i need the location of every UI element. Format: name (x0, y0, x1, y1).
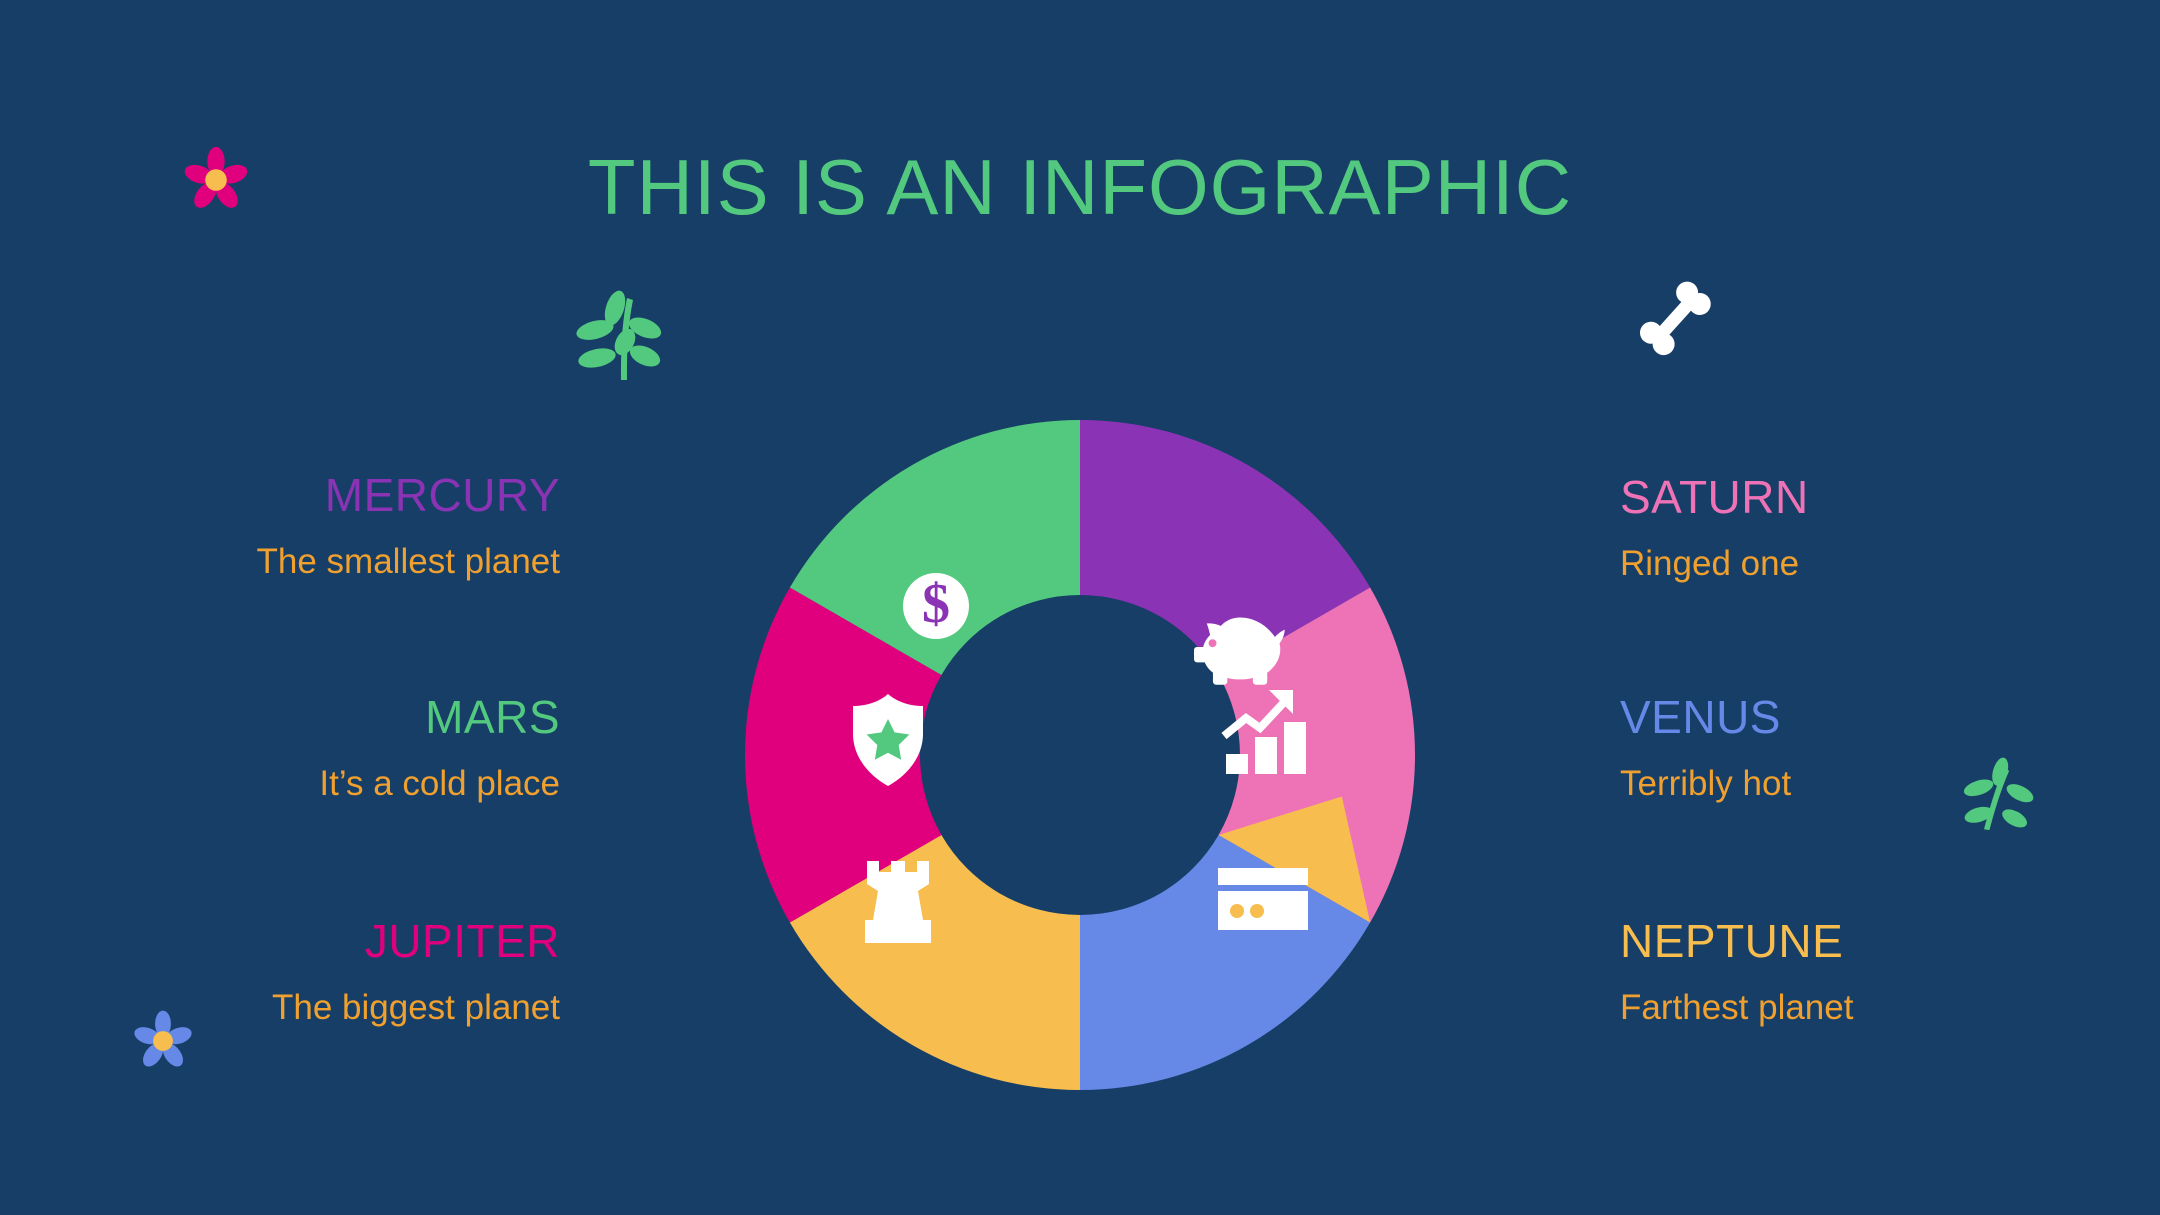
planet-name-neptune: NEPTUNE (1620, 916, 2160, 968)
legend-item-jupiter[interactable]: JUPITER The biggest planet (0, 916, 560, 1028)
planet-desc-jupiter: The biggest planet (0, 988, 560, 1028)
legend-item-saturn[interactable]: SATURN Ringed one (1620, 472, 2160, 584)
legend-item-mercury[interactable]: MERCURY The smallest planet (0, 470, 560, 582)
planet-desc-saturn: Ringed one (1620, 544, 2160, 584)
planet-desc-venus: Terribly hot (1620, 764, 2160, 804)
leaf-branch-icon (565, 284, 665, 384)
bone-icon (1625, 268, 1725, 368)
donut-chart: $ (690, 410, 1470, 1090)
planet-desc-neptune: Farthest planet (1620, 988, 2160, 1028)
infographic-slide: THIS IS AN INFOGRAPHIC MERCURY The small… (0, 0, 2160, 1215)
credit-card-icon (1218, 868, 1308, 930)
dollar-circle-icon: $ (903, 573, 969, 639)
page-title: THIS IS AN INFOGRAPHIC (0, 142, 2160, 233)
planet-name-saturn: SATURN (1620, 472, 2160, 524)
planet-name-mars: MARS (0, 692, 560, 744)
flower-blue-icon (130, 1008, 196, 1074)
planet-name-mercury: MERCURY (0, 470, 560, 522)
legend-item-mars[interactable]: MARS It’s a cold place (0, 692, 560, 804)
legend-item-venus[interactable]: VENUS Terribly hot (1620, 692, 2160, 804)
planet-desc-mars: It’s a cold place (0, 764, 560, 804)
flower-pink-icon (180, 144, 252, 216)
svg-text:$: $ (922, 573, 950, 635)
legend-item-neptune[interactable]: NEPTUNE Farthest planet (1620, 916, 2160, 1028)
planet-desc-mercury: The smallest planet (0, 542, 560, 582)
leaf-branch-small-icon (1948, 750, 2038, 840)
planet-name-jupiter: JUPITER (0, 916, 560, 968)
planet-name-venus: VENUS (1620, 692, 2160, 744)
donut-segments (745, 420, 1415, 1090)
